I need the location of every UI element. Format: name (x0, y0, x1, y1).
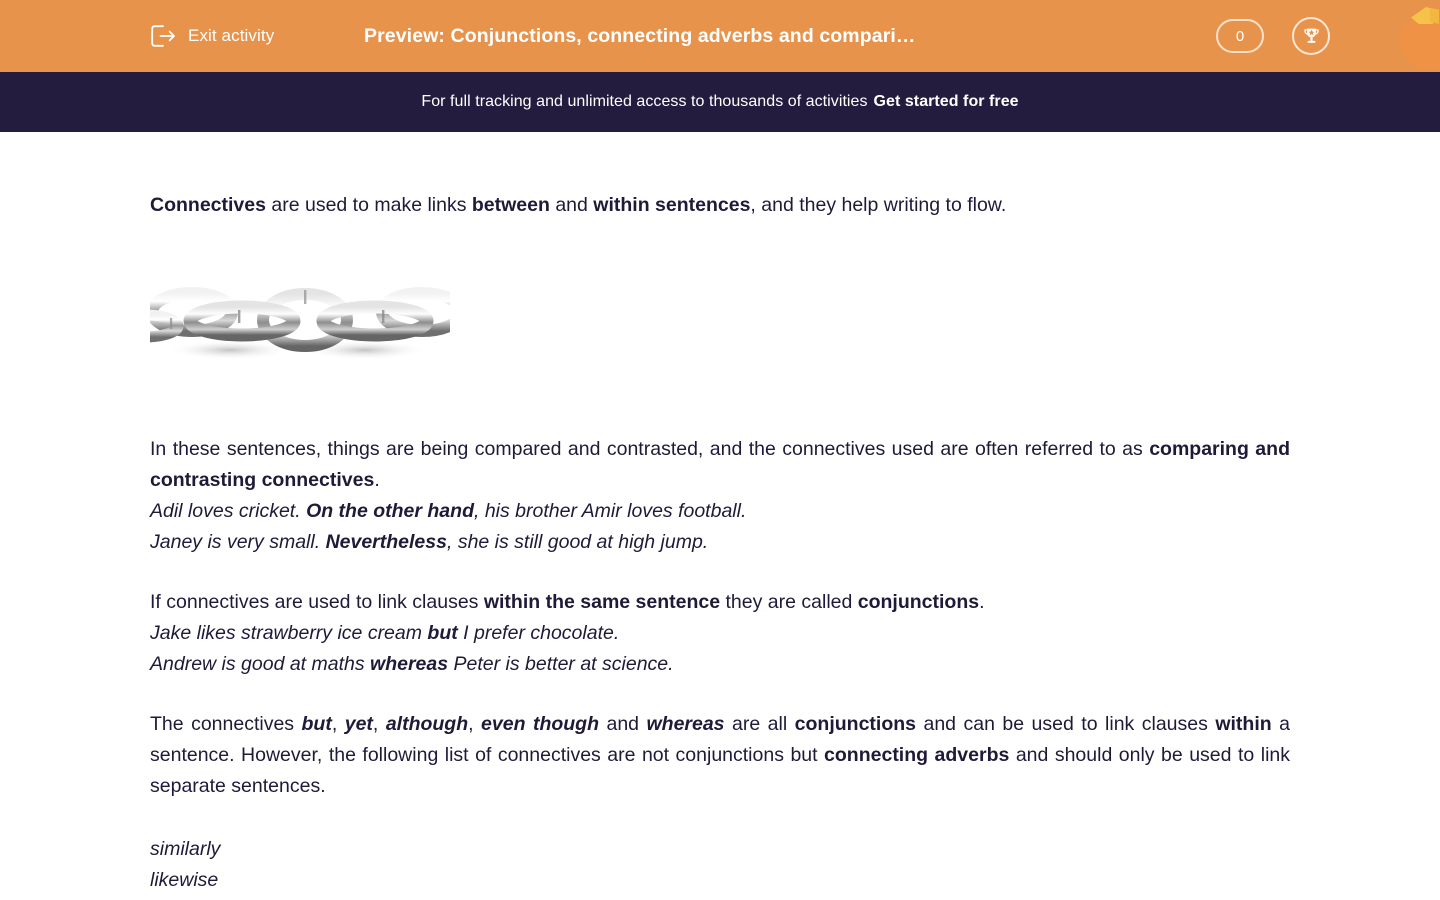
list-item: likewise (150, 865, 1290, 896)
cj-text-e: . (979, 591, 984, 613)
cc-text-a: In these sentences, things are being com… (150, 438, 1149, 460)
example-adil-c: , his brother Amir loves football. (474, 500, 746, 522)
sum-sep-1: , (332, 713, 345, 735)
cj-bold-same-sentence: within the same sentence (484, 591, 720, 613)
exit-activity-label: Exit activity (188, 26, 274, 46)
example-andrew-c: Peter is better at science. (448, 653, 673, 675)
cj-text-c: they are called (720, 591, 858, 613)
connectives-summary-paragraph: The connectives but, yet, although, even… (150, 709, 1290, 802)
intro-text-1: are used to make links (266, 194, 472, 216)
example-janey: Janey is very small. Nevertheless, she i… (150, 527, 1290, 558)
list-item: similarly (150, 834, 1290, 865)
trophy-button[interactable] (1292, 17, 1330, 55)
sum-bold-conjunctions: conjunctions (795, 713, 916, 735)
example-janey-connective: Nevertheless (326, 531, 447, 553)
intro-bold-within: within sentences (593, 194, 750, 216)
example-jake-connective: but (427, 622, 457, 644)
conjunctions-paragraph: If connectives are used to link clauses … (150, 587, 1290, 618)
trophy-icon (1301, 26, 1322, 47)
sum-sep-2: , (373, 713, 386, 735)
sum-bold-connecting-adverbs: connecting adverbs (824, 744, 1009, 766)
example-andrew-connective: whereas (370, 653, 448, 675)
cc-text-c: . (374, 469, 379, 491)
sum-sep-4: and (599, 713, 646, 735)
intro-lead-bold: Connectives (150, 194, 266, 216)
intro-paragraph: Connectives are used to make links betwe… (150, 190, 1290, 221)
chain-links-image (150, 278, 450, 398)
sum-sep-3: , (468, 713, 481, 735)
sum-word-even-though: even though (481, 713, 599, 735)
example-andrew-a: Andrew is good at maths (150, 653, 370, 675)
sum-word-but: but (302, 713, 332, 735)
example-andrew: Andrew is good at maths whereas Peter is… (150, 649, 1290, 680)
exit-arrow-icon (150, 24, 176, 48)
sum-bold-within: within (1215, 713, 1271, 735)
sum-word-although: although (386, 713, 468, 735)
sum-b: are all (725, 713, 795, 735)
intro-bold-between: between (472, 194, 550, 216)
example-jake-c: I prefer chocolate. (458, 622, 620, 644)
example-adil-a: Adil loves cricket. (150, 500, 306, 522)
top-bar: Exit activity Preview: Conjunctions, con… (0, 0, 1440, 72)
sum-word-whereas: whereas (646, 713, 724, 735)
get-started-link[interactable]: Get started for free (874, 93, 1019, 111)
example-janey-c: , she is still good at high jump. (447, 531, 708, 553)
score-value: 0 (1236, 28, 1244, 45)
activity-content: Connectives are used to make links betwe… (0, 190, 1440, 900)
sum-c: and can be used to link clauses (916, 713, 1215, 735)
user-avatar[interactable] (1400, 7, 1440, 69)
example-jake: Jake likes strawberry ice cream but I pr… (150, 618, 1290, 649)
list-item: equally (150, 896, 1290, 900)
sum-a: The connectives (150, 713, 302, 735)
connecting-adverbs-list: similarly likewise equally (150, 834, 1290, 900)
intro-text-3: , and they help writing to flow. (750, 194, 1006, 216)
example-janey-a: Janey is very small. (150, 531, 326, 553)
exit-activity-button[interactable]: Exit activity (150, 24, 274, 48)
orange-leaf-secondary-icon (1430, 8, 1439, 24)
intro-text-2: and (550, 194, 593, 216)
cj-bold-conjunctions: conjunctions (858, 591, 979, 613)
example-jake-a: Jake likes strawberry ice cream (150, 622, 427, 644)
compare-contrast-paragraph: In these sentences, things are being com… (150, 434, 1290, 496)
example-adil-connective: On the other hand (306, 500, 474, 522)
promo-banner: For full tracking and unlimited access t… (0, 72, 1440, 132)
example-adil: Adil loves cricket. On the other hand, h… (150, 496, 1290, 527)
chain-links-graphic (150, 278, 450, 398)
score-counter[interactable]: 0 (1216, 19, 1264, 53)
cj-text-a: If connectives are used to link clauses (150, 591, 484, 613)
activity-title: Preview: Conjunctions, connecting adverb… (364, 25, 984, 48)
promo-text: For full tracking and unlimited access t… (421, 93, 867, 111)
sum-word-yet: yet (345, 713, 373, 735)
